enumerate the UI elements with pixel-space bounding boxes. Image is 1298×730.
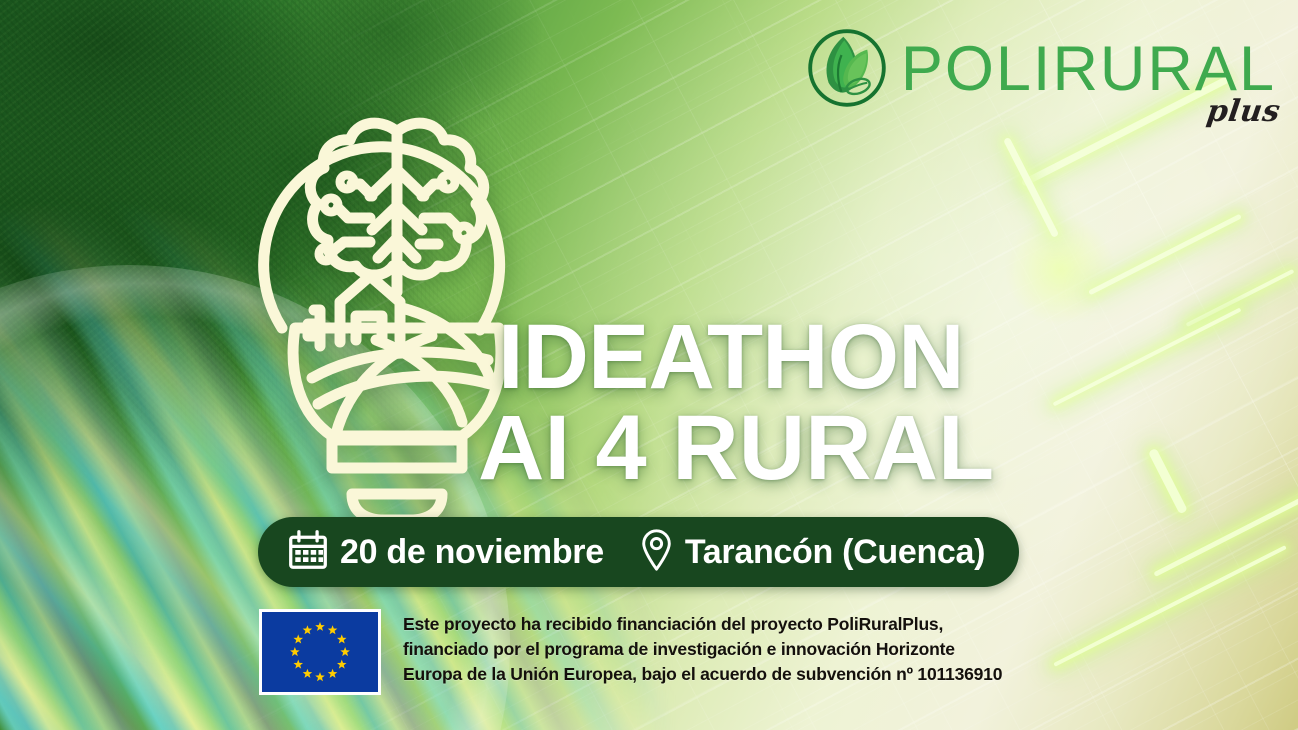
- eu-funding-block: Este proyecto ha recibido financiación d…: [259, 609, 1002, 695]
- event-date-label: 20 de noviembre: [340, 533, 604, 572]
- headline-line-2: AI 4 RURAL: [478, 403, 994, 494]
- calendar-icon: [288, 530, 328, 575]
- event-location: Tarancón (Cuenca): [640, 529, 985, 576]
- leaf-circle-icon: [801, 22, 893, 114]
- headline-line-1: IDEATHON: [498, 312, 994, 403]
- event-banner: POLIRURAL plus: [0, 0, 1298, 730]
- page-title: IDEATHON AI 4 RURAL: [498, 312, 994, 494]
- location-pin-icon: [640, 529, 673, 576]
- event-details-pill: 20 de noviembre Tarancón (Cuenca): [258, 517, 1019, 587]
- polirural-plus-logo[interactable]: POLIRURAL plus: [801, 22, 1276, 114]
- event-date: 20 de noviembre: [288, 530, 604, 575]
- eu-flag-icon: [259, 609, 381, 695]
- logo-suffix: plus: [1204, 94, 1282, 129]
- funding-disclaimer: Este proyecto ha recibido financiación d…: [403, 609, 1002, 687]
- event-location-label: Tarancón (Cuenca): [685, 533, 985, 572]
